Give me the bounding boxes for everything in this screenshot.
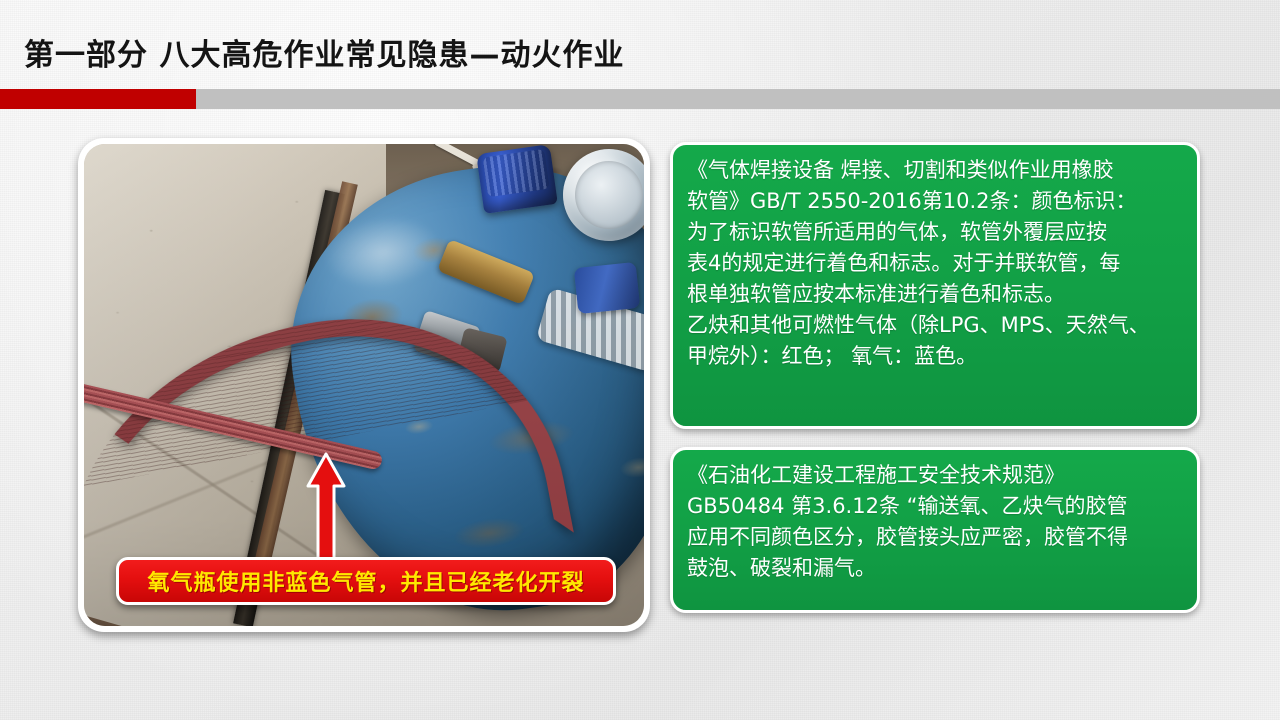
note-line: GB50484 第3.6.12条 “输送氧、乙炔气的胶管 xyxy=(687,491,1183,522)
note-line: 表4的规定进行着色和标志。对于并联软管，每 xyxy=(687,248,1183,279)
photo-card: 氧气瓶使用非蓝色气管，并且已经老化开裂 xyxy=(78,138,650,632)
valve-knob xyxy=(477,144,559,214)
regulation-note-box-2: 《石油化工建设工程施工安全技术规范》 GB50484 第3.6.12条 “输送氧… xyxy=(670,447,1200,613)
hazard-photo: 氧气瓶使用非蓝色气管，并且已经老化开裂 xyxy=(84,144,644,626)
gauge-face xyxy=(572,157,644,232)
regulation-note-box-1: 《气体焊接设备 焊接、切割和类似作业用橡胶 软管》GB/T 2550-2016第… xyxy=(670,142,1200,429)
note-line: 《气体焊接设备 焊接、切割和类似作业用橡胶 xyxy=(687,155,1183,186)
slide-canvas: 第一部分 八大高危作业常见隐患—动火作业 xyxy=(0,0,1280,720)
note-line: 乙炔和其他可燃性气体（除LPG、MPS、天然气、 xyxy=(687,310,1183,341)
note-line: 鼓泡、破裂和漏气。 xyxy=(687,553,1183,584)
photo-caption-text: 氧气瓶使用非蓝色气管，并且已经老化开裂 xyxy=(147,565,584,597)
photo-caption-banner: 氧气瓶使用非蓝色气管，并且已经老化开裂 xyxy=(116,557,616,605)
note-line: 根单独软管应按本标准进行着色和标志。 xyxy=(687,279,1183,310)
up-arrow-icon xyxy=(306,452,346,570)
note-line: 软管》GB/T 2550-2016第10.2条：颜色标识： xyxy=(687,186,1183,217)
note-line: 《石油化工建设工程施工安全技术规范》 xyxy=(687,460,1183,491)
note-line: 应用不同颜色区分，胶管接头应严密，胶管不得 xyxy=(687,522,1183,553)
note-line: 甲烷外）：红色； 氧气：蓝色。 xyxy=(687,341,1183,372)
regulator-body xyxy=(574,261,640,313)
note-line: 为了标识软管所适用的气体，软管外覆层应按 xyxy=(687,217,1183,248)
header-rule-red xyxy=(0,89,196,109)
page-title: 第一部分 八大高危作业常见隐患—动火作业 xyxy=(24,30,624,74)
